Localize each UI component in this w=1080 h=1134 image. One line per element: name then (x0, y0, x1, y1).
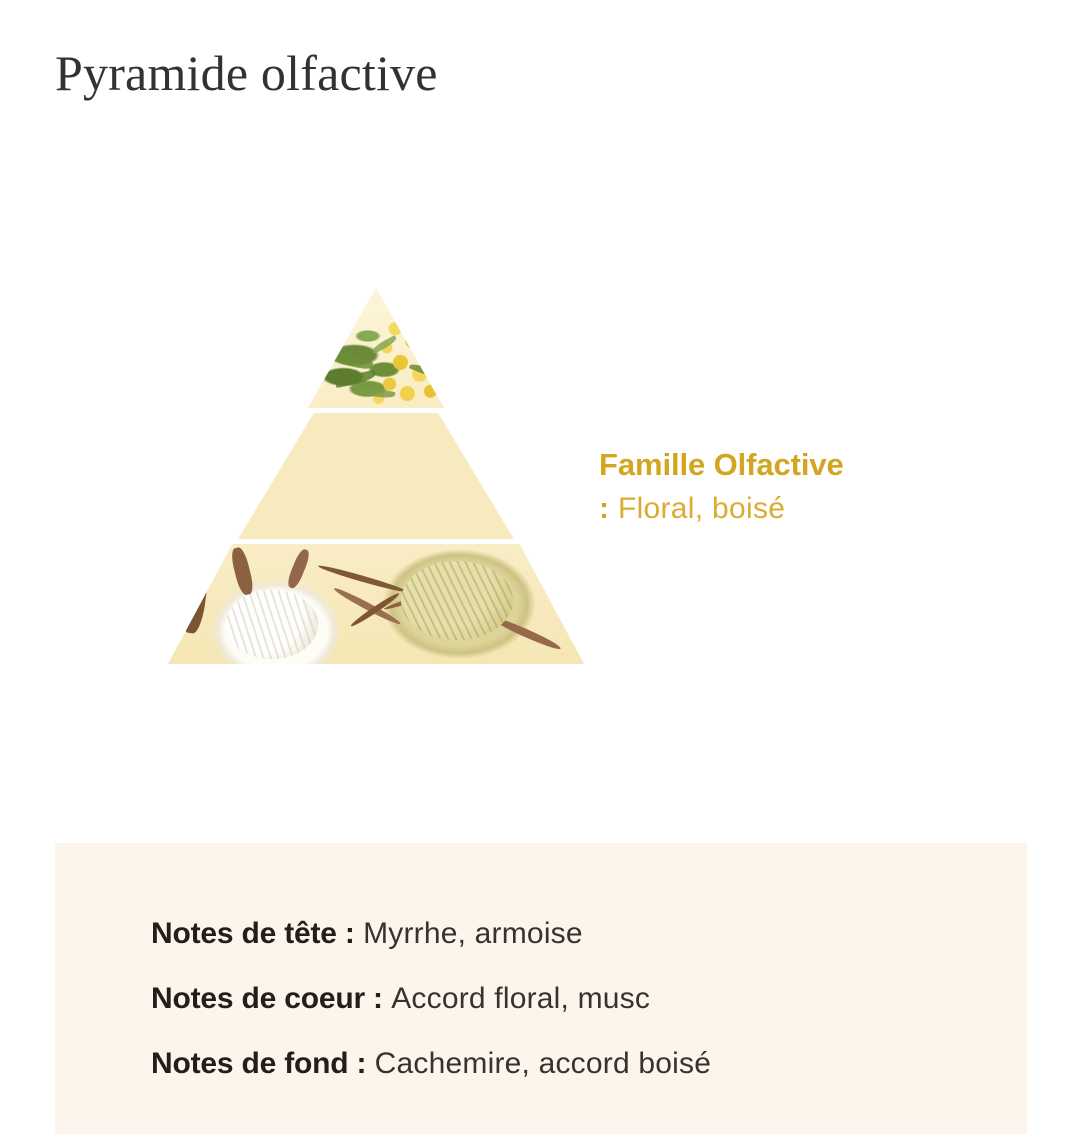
olfactive-family-block: Famille Olfactive : Floral, boisé (599, 443, 1029, 531)
note-value-heart: Accord floral, musc (391, 982, 650, 1015)
note-row-top: Notes de tête : Myrrhe, armoise (151, 901, 1011, 966)
olfactive-family-value-line: : Floral, boisé (599, 487, 1029, 531)
leaf-icon (359, 386, 395, 400)
note-value-base: Cachemire, accord boisé (375, 1047, 711, 1080)
olfactive-family-label: Famille Olfactive (599, 443, 1029, 487)
pyramid-tier-middle (238, 413, 514, 539)
note-value-top: Myrrhe, armoise (363, 917, 583, 950)
leaf-icon (335, 370, 377, 388)
olfactive-family-colon: : (599, 492, 609, 525)
perfume-olfactive-pyramid-page: Pyramide olfactive (0, 0, 1080, 1134)
page-title: Pyramide olfactive (55, 42, 438, 104)
yarn-ball-khaki-icon (401, 561, 513, 640)
pyramid-section: Famille Olfactive : Floral, boisé (0, 275, 1080, 695)
notes-list: Notes de tête : Myrrhe, armoise Notes de… (151, 901, 1011, 1096)
branch-icon (179, 559, 210, 636)
wood-yarn-artwork (168, 544, 584, 664)
branch-icon (317, 563, 407, 594)
pyramid-tier-top (308, 288, 444, 408)
yarn-ball-cream-icon (226, 590, 318, 660)
note-label-heart: Notes de coeur : (151, 982, 383, 1015)
pyramid-tier-bottom (168, 544, 584, 664)
notes-card: Notes de tête : Myrrhe, armoise Notes de… (55, 843, 1027, 1134)
note-label-top: Notes de tête : (151, 917, 355, 950)
branch-icon (229, 546, 255, 596)
note-row-base: Notes de fond : Cachemire, accord boisé (151, 1031, 1011, 1096)
olfactive-family-value: Floral, boisé (618, 492, 785, 525)
leaf-icon (408, 362, 438, 380)
olfactive-pyramid (160, 275, 590, 675)
branch-icon (285, 548, 312, 590)
leaf-icon (326, 348, 373, 373)
mimosa-foliage-artwork (308, 288, 444, 408)
floral-roots-artwork (238, 413, 514, 539)
note-label-base: Notes de fond : (151, 1047, 366, 1080)
leaf-icon (370, 335, 397, 354)
note-row-heart: Notes de coeur : Accord floral, musc (151, 966, 1011, 1031)
